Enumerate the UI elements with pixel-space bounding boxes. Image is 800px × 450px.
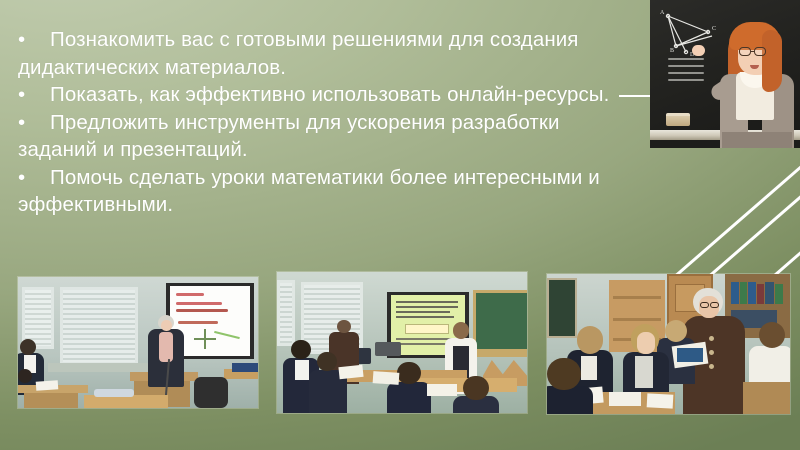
bullet-text: Помочь сделать уроки математики более ин… [18, 166, 606, 217]
desk-items [94, 389, 134, 397]
student-head [291, 340, 311, 359]
teacher-skirt [722, 132, 792, 148]
bullet-item-2: •Показать, как эффективно использовать о… [18, 81, 618, 109]
teacher-head [337, 320, 351, 333]
glasses-icon [710, 302, 719, 308]
photo-scene [547, 274, 790, 414]
bullet-text: Показать, как эффективно использовать он… [50, 83, 609, 106]
student-desk-body [24, 393, 78, 408]
chalk-notes [668, 58, 704, 90]
bullet-text: Предложить инструменты для ускорения раз… [18, 111, 565, 162]
notebook-paper [609, 392, 641, 406]
book [748, 282, 756, 304]
slide-text-line [396, 316, 454, 318]
slide-canvas: •Познакомить вас с готовыми решениями дл… [0, 0, 800, 450]
jacket-button [709, 350, 714, 355]
window-blinds [60, 287, 138, 365]
photo-scene [18, 277, 258, 408]
chalk-eraser-icon [666, 113, 690, 126]
presenting-student-head [453, 322, 469, 339]
notebook-paper [647, 393, 674, 408]
worksheet-paper [373, 371, 400, 385]
bullet-marker: • [18, 109, 50, 137]
slide-text-line [176, 293, 204, 296]
book [731, 282, 739, 304]
decorative-horizontal-line [619, 95, 651, 97]
bullet-marker: • [18, 26, 50, 54]
student-shirt [635, 356, 653, 388]
student-head [317, 352, 337, 371]
glasses-bridge [751, 51, 754, 52]
student-head [577, 326, 603, 354]
jacket-button [709, 364, 714, 369]
photo-scene [277, 272, 527, 413]
photo-teacher-with-projection-screen [18, 277, 258, 408]
bullet-item-1: •Познакомить вас с готовыми решениями дл… [18, 26, 618, 81]
glasses-icon [739, 47, 751, 56]
window-sill [48, 363, 158, 372]
svg-text:B: B [670, 48, 674, 54]
shelf-plank [613, 318, 661, 321]
textbook-cover [677, 348, 703, 362]
student-head [759, 322, 785, 348]
teacher-figure [710, 14, 800, 148]
bullet-marker: • [18, 164, 50, 192]
teacher-hand [692, 45, 705, 56]
photo-classroom-students-presentation [277, 272, 527, 413]
teacher-hair-side [762, 30, 782, 92]
teacher-face [161, 320, 172, 331]
student-body [387, 382, 431, 413]
slide-text-line [396, 311, 450, 313]
green-chalkboard [473, 290, 527, 352]
student-head [665, 320, 687, 342]
student-body [547, 386, 593, 414]
slide-highlight-box [405, 324, 449, 334]
window-left [277, 280, 295, 346]
jacket-button [709, 336, 714, 341]
glasses-icon [700, 302, 709, 308]
bullet-list: •Познакомить вас с готовыми решениями дл… [18, 26, 618, 219]
teacher-shirt [159, 332, 173, 362]
student-shirt [295, 360, 309, 380]
worksheet-paper [427, 384, 457, 396]
slide-text-line [176, 302, 222, 305]
bullet-marker: • [18, 81, 50, 109]
student-head [20, 339, 36, 355]
office-chair [194, 377, 228, 408]
shelf-plank [613, 296, 661, 299]
chalkboard-edge [547, 278, 577, 338]
slide-text-line [176, 309, 228, 312]
slide-text-line [396, 343, 448, 345]
notebook-paper [36, 380, 59, 391]
student-shirt [581, 356, 597, 380]
photo-teacher-helping-students [547, 274, 790, 414]
teacher-blackboard-illustration: A C B D [650, 0, 800, 148]
slide-axis-horizontal [194, 338, 216, 340]
student-head [18, 369, 32, 383]
glasses-icon [754, 47, 766, 56]
bullet-item-3: •Предложить инструменты для ускорения ра… [18, 109, 618, 164]
stack-of-books [232, 363, 258, 372]
book [740, 282, 747, 304]
book [775, 284, 783, 304]
student-face [637, 332, 655, 354]
bullet-text: Познакомить вас с готовыми решениями для… [18, 28, 584, 79]
student-head [463, 376, 489, 400]
side-desk [743, 382, 790, 414]
svg-text:A: A [660, 10, 665, 16]
slide-text-line [396, 306, 458, 308]
book [757, 284, 764, 304]
student-head [547, 358, 581, 390]
chalkboard-tray [473, 352, 527, 357]
decorative-diagonal-lines [640, 150, 800, 290]
slide-text-line [178, 321, 218, 324]
worksheet-paper [338, 365, 363, 379]
printer-device [375, 342, 401, 356]
student-head [397, 362, 421, 384]
book [765, 282, 774, 304]
bullet-item-4: •Помочь сделать уроки математики более и… [18, 164, 618, 219]
slide-text-line [396, 301, 458, 303]
